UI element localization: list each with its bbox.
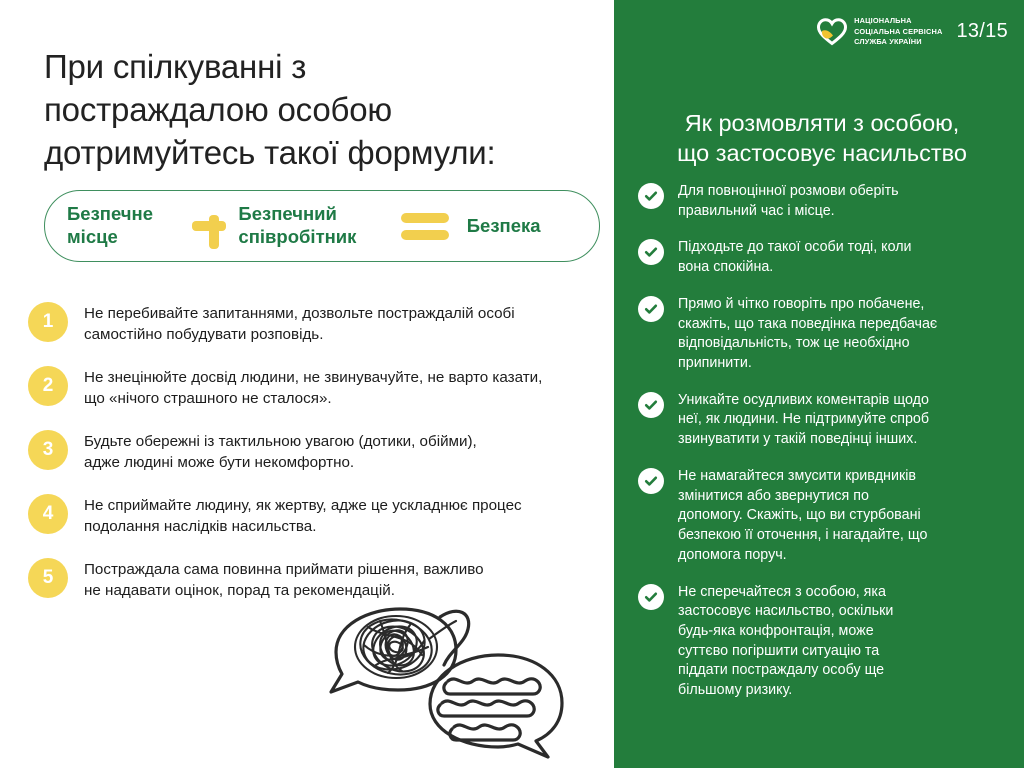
check-circle-icon [638,239,664,265]
list-item-text: Не сперечайтеся з особою, яка застосовує… [678,583,893,701]
page-title: При спілкуванні з постраждалою особою до… [44,46,604,175]
check-circle-icon [638,584,664,610]
list-item-text: Прямо й чітко говоріть про побачене, ска… [678,295,937,374]
left-panel: При спілкуванні з постраждалою особою до… [0,0,614,768]
formula-term-safe-employee: Безпечний співробітник [238,203,392,248]
list-item-number: 4 [28,494,68,534]
organization-name: НАЦІОНАЛЬНА СОЦІАЛЬНА СЕРВІСНА СЛУЖБА УК… [854,16,942,48]
right-panel-title: Як розмовляти з особою, що застосовує на… [628,108,1016,169]
organization-logo: НАЦІОНАЛЬНА СОЦІАЛЬНА СЕРВІСНА СЛУЖБА УК… [817,16,942,48]
page-number: 13/15 [956,20,1008,43]
equals-icon [399,209,455,243]
check-circle-icon [638,392,664,418]
list-item-number: 1 [28,302,68,342]
list-item: Прямо й чітко говоріть про побачене, ска… [638,295,1010,374]
formula-term-safe-place: Безпечне місце [67,203,186,248]
check-circle-icon [638,183,664,209]
list-item: 1 Не перебивайте запитаннями, дозвольте … [28,300,608,346]
check-circle-icon [638,296,664,322]
plus-icon [186,203,232,249]
list-item-text: Не сприймайте людину, як жертву, адже це… [84,492,522,538]
brand-row: НАЦІОНАЛЬНА СОЦІАЛЬНА СЕРВІСНА СЛУЖБА УК… [817,16,1008,48]
speech-bubbles-illustration [290,595,590,760]
list-item-text: Уникайте осудливих коментарів щодо неї, … [678,391,929,450]
list-item: Для повноцінної розмови оберіть правильн… [638,182,1010,221]
check-circle-icon [638,468,664,494]
list-item-text: Будьте обережні із тактильною увагою (до… [84,428,477,474]
safety-formula-box: Безпечне місце Безпечний співробітник Бе… [44,190,600,262]
list-item-number: 2 [28,366,68,406]
list-item-text: Для повноцінної розмови оберіть правильн… [678,182,899,221]
list-item: Уникайте осудливих коментарів щодо неї, … [638,391,1010,450]
list-item: Не сперечайтеся з особою, яка застосовує… [638,583,1010,701]
numbered-advice-list: 1 Не перебивайте запитаннями, дозвольте … [28,300,608,620]
list-item-number: 5 [28,558,68,598]
list-item: Не намагайтеся змусити кривдників змінит… [638,467,1010,566]
list-item-text: Не перебивайте запитаннями, дозвольте по… [84,300,515,346]
slide-root: При спілкуванні з постраждалою особою до… [0,0,1024,768]
list-item: 4 Не сприймайте людину, як жертву, адже … [28,492,608,538]
list-item-text: Не знецінюйте досвід людини, не звинувач… [84,364,542,410]
list-item: 2 Не знецінюйте досвід людини, не звинув… [28,364,608,410]
formula-term-safety: Безпека [467,215,577,238]
list-item-text: Не намагайтеся змусити кривдників змінит… [678,467,927,566]
list-item-text: Підходьте до такої особи тоді, коли вона… [678,238,912,277]
list-item: 3 Будьте обережні із тактильною увагою (… [28,428,608,474]
checklist: Для повноцінної розмови оберіть правильн… [638,182,1010,718]
right-panel: НАЦІОНАЛЬНА СОЦІАЛЬНА СЕРВІСНА СЛУЖБА УК… [614,0,1024,768]
list-item: Підходьте до такої особи тоді, коли вона… [638,238,1010,277]
heart-logo-icon [817,18,847,46]
list-item-number: 3 [28,430,68,470]
